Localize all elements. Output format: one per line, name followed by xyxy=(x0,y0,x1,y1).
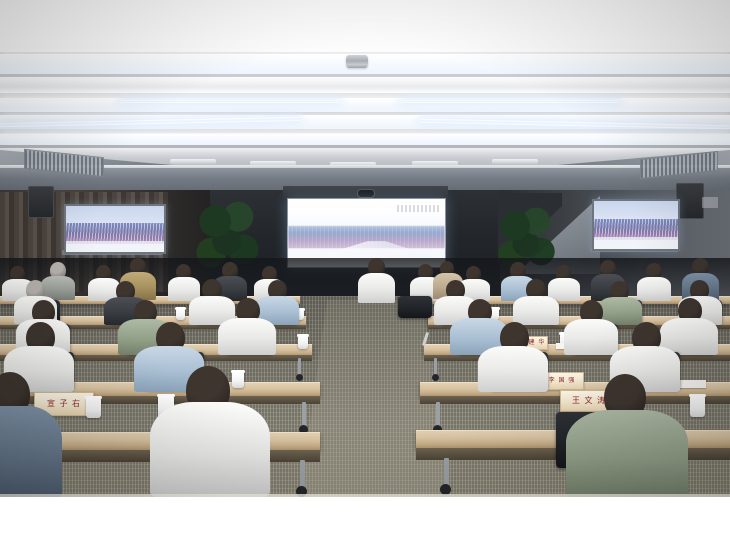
chair-caster xyxy=(432,374,439,381)
smoke-detector-icon xyxy=(346,55,368,68)
watermark-icon xyxy=(397,205,439,212)
chair-caster xyxy=(296,374,303,381)
page-bottom-margin xyxy=(0,497,730,548)
namecard-text: 宣 子 右 xyxy=(47,400,81,408)
ceiling-seam xyxy=(0,112,730,115)
display-foreground xyxy=(594,237,678,249)
paper-cup xyxy=(176,309,185,320)
display-foreground xyxy=(66,241,164,252)
wall-speaker xyxy=(28,186,54,218)
desk-edge xyxy=(424,355,730,361)
camera-icon xyxy=(357,189,375,198)
ceiling-light-strip xyxy=(0,98,730,112)
wall-speaker xyxy=(676,183,704,219)
office-chair xyxy=(398,296,432,318)
namecard-text: 李 国 强 xyxy=(549,378,576,384)
light-tube xyxy=(120,100,340,103)
paper-cup xyxy=(690,396,705,417)
light-tube xyxy=(400,100,620,103)
side-display-left xyxy=(64,204,166,254)
conference-room-photograph: 张 建 华 李 国 强 xyxy=(0,0,730,497)
recessed-light xyxy=(492,159,538,164)
recessed-light xyxy=(170,159,216,164)
ceiling-seam xyxy=(0,74,730,77)
ceiling-rail xyxy=(0,129,730,133)
paper-cup xyxy=(86,398,101,418)
ceiling-light-strip xyxy=(0,134,730,145)
document-paper xyxy=(676,380,706,388)
ceiling-seam xyxy=(0,145,730,148)
paper-cup xyxy=(298,336,308,349)
namecard-text: 王 文 涛 xyxy=(572,397,606,405)
side-display-right xyxy=(592,199,680,251)
exit-sign xyxy=(702,197,718,208)
paper-cup xyxy=(232,372,244,388)
